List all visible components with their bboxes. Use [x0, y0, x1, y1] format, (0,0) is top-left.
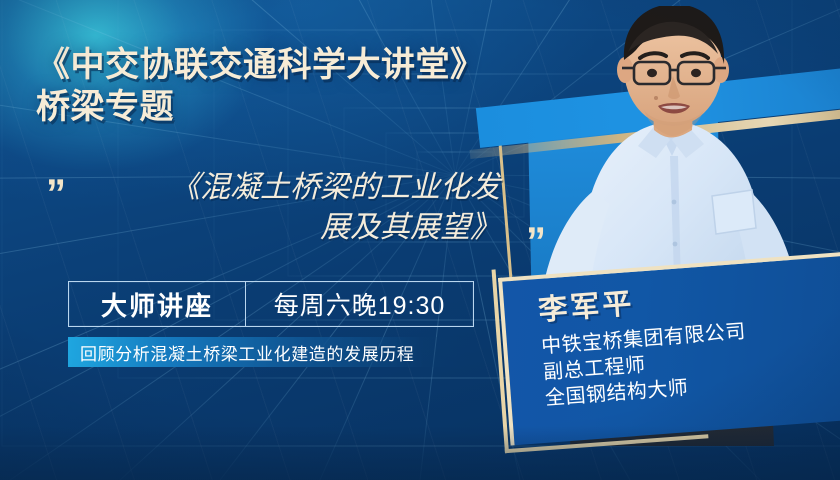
vignette-overlay	[0, 0, 840, 480]
promo-poster: 《中交协联交通科学大讲堂》 桥梁专题 ” 《混凝土桥梁的工业化发 展及其展望》 …	[0, 0, 840, 480]
bottom-fade-overlay	[0, 426, 840, 480]
